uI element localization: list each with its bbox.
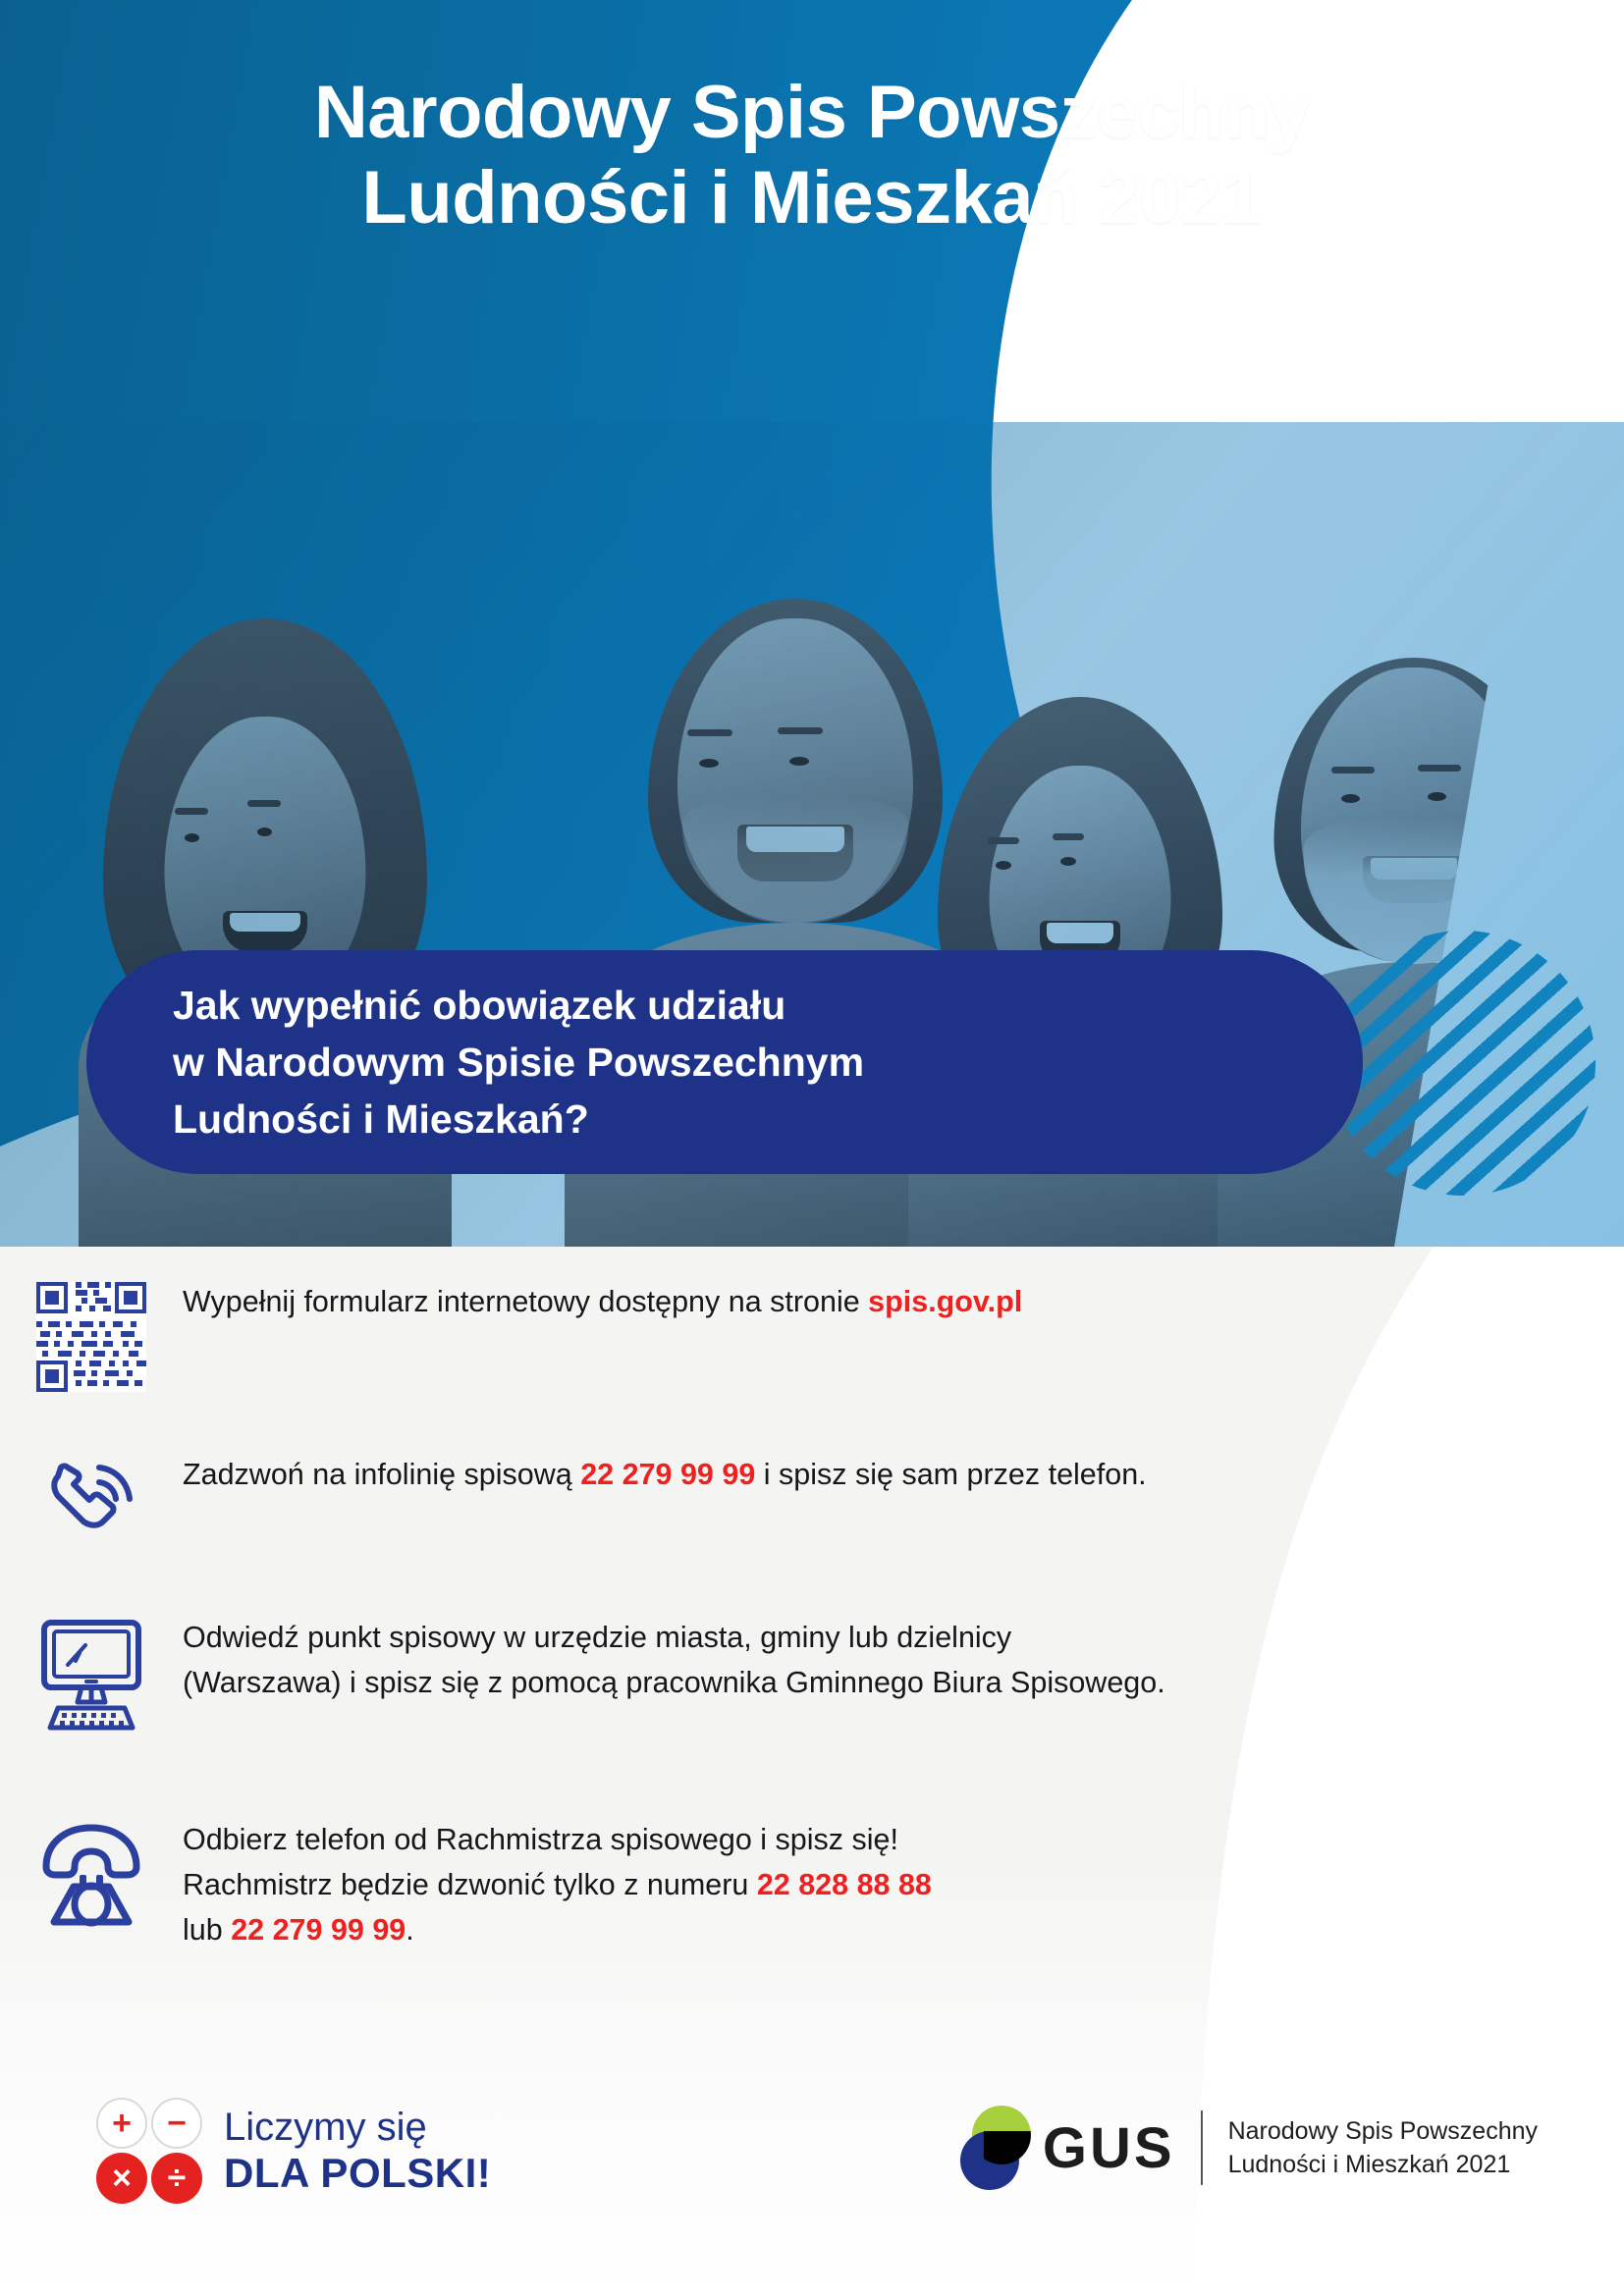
- gus-circles-icon: [960, 2106, 1031, 2190]
- instruction-row: Zadzwoń na infolinię spisową 22 279 99 9…: [0, 1449, 1624, 1586]
- multiply-icon: ×: [96, 2153, 147, 2204]
- instruction-text-part: .: [406, 1913, 413, 1947]
- gus-subtitle-line-1: Narodowy Spis Powszechny: [1228, 2114, 1538, 2148]
- footer-divider: [1201, 2110, 1203, 2185]
- instruction-line: Odwiedź punkt spisowy w urzędzie miasta,…: [183, 1616, 1165, 1661]
- poster-root: Narodowy Spis Powszechny Ludności i Mies…: [0, 0, 1624, 2296]
- slogan-text: Liczymy się DLA POLSKI!: [224, 2106, 491, 2196]
- title-line-2: Ludności i Mieszkań 2021: [0, 156, 1624, 241]
- instruction-line: Wypełnij formularz internetowy dostępny …: [183, 1280, 1022, 1325]
- banner-line-2: w Narodowym Spisie Powszechnym: [173, 1034, 864, 1091]
- slogan-line-2: DLA POLSKI!: [224, 2150, 491, 2196]
- page-title: Narodowy Spis Powszechny Ludności i Mies…: [0, 71, 1624, 240]
- instruction-icon-slot: [0, 1449, 183, 1557]
- instruction-row: Odbierz telefon od Rachmistrza spisowego…: [0, 1814, 1624, 2010]
- instruction-highlight: 22 279 99 99: [580, 1458, 755, 1491]
- instruction-text: Odwiedź punkt spisowy w urzędzie miasta,…: [183, 1612, 1254, 1706]
- instruction-highlight: 22 828 88 88: [757, 1868, 932, 1901]
- instruction-icon-slot: [0, 1612, 183, 1732]
- instruction-text-part: i spisz się sam przez telefon.: [755, 1458, 1146, 1491]
- qr-code-icon: [36, 1282, 146, 1392]
- instruction-line: Zadzwoń na infolinię spisową 22 279 99 9…: [183, 1453, 1147, 1498]
- gus-logo-block: GUS Narodowy Spis Powszechny Ludności i …: [960, 2106, 1538, 2190]
- instruction-highlight: spis.gov.pl: [868, 1285, 1022, 1318]
- instruction-line: lub 22 279 99 99.: [183, 1908, 932, 1953]
- question-banner: Jak wypełnić obowiązek udziału w Narodow…: [86, 950, 1363, 1174]
- slogan-line-1: Liczymy się: [224, 2106, 491, 2150]
- instruction-text-part: Odwiedź punkt spisowy w urzędzie miasta,…: [183, 1621, 1011, 1654]
- instruction-row: Odwiedź punkt spisowy w urzędzie miasta,…: [0, 1612, 1624, 1789]
- instruction-line: Odbierz telefon od Rachmistrza spisowego…: [183, 1818, 932, 1863]
- instruction-list: Wypełnij formularz internetowy dostępny …: [0, 1276, 1624, 2036]
- instruction-text-part: Zadzwoń na infolinię spisową: [183, 1458, 580, 1491]
- instruction-line: Rachmistrz będzie dzwonić tylko z numeru…: [183, 1863, 932, 1908]
- instruction-text-part: Rachmistrz będzie dzwonić tylko z numeru: [183, 1868, 757, 1901]
- instruction-text: Odbierz telefon od Rachmistrza spisowego…: [183, 1814, 1020, 1952]
- gus-subtitle-line-2: Ludności i Mieszkań 2021: [1228, 2148, 1538, 2181]
- instruction-text: Zadzwoń na infolinię spisową 22 279 99 9…: [183, 1449, 1235, 1498]
- desktop-computer-icon: [38, 1618, 144, 1732]
- title-line-1: Narodowy Spis Powszechny: [0, 71, 1624, 156]
- instruction-line: (Warszawa) i spisz się z pomocą pracowni…: [183, 1661, 1165, 1706]
- liczymy-sie-logo: + − × ÷ Liczymy się DLA POLSKI!: [96, 2098, 491, 2204]
- phone-handset-icon: [40, 1455, 142, 1557]
- banner-line-3: Ludności i Mieszkań?: [173, 1091, 864, 1148]
- instruction-text-part: lub: [183, 1913, 231, 1947]
- instruction-icon-slot: [0, 1814, 183, 1930]
- math-operators-mark: + − × ÷: [96, 2098, 202, 2204]
- instruction-text-part: (Warszawa) i spisz się z pomocą pracowni…: [183, 1666, 1165, 1699]
- instruction-text-part: Wypełnij formularz internetowy dostępny …: [183, 1285, 868, 1318]
- gus-wordmark: GUS: [1043, 2115, 1175, 2181]
- instruction-row: Wypełnij formularz internetowy dostępny …: [0, 1276, 1624, 1423]
- divide-icon: ÷: [151, 2153, 202, 2204]
- minus-icon: −: [151, 2098, 202, 2149]
- plus-icon: +: [96, 2098, 147, 2149]
- instruction-highlight: 22 279 99 99: [231, 1913, 406, 1947]
- instruction-text: Wypełnij formularz internetowy dostępny …: [183, 1276, 1110, 1325]
- instruction-text-part: Odbierz telefon od Rachmistrza spisowego…: [183, 1823, 898, 1856]
- question-banner-text: Jak wypełnić obowiązek udziału w Narodow…: [86, 977, 864, 1148]
- footer: + − × ÷ Liczymy się DLA POLSKI! GUS Naro…: [0, 2088, 1624, 2255]
- banner-line-1: Jak wypełnić obowiązek udziału: [173, 977, 864, 1034]
- gus-subtitle: Narodowy Spis Powszechny Ludności i Mies…: [1228, 2114, 1538, 2181]
- striped-circle-decoration: [1330, 931, 1596, 1196]
- rotary-phone-icon: [36, 1820, 146, 1930]
- instruction-icon-slot: [0, 1276, 183, 1392]
